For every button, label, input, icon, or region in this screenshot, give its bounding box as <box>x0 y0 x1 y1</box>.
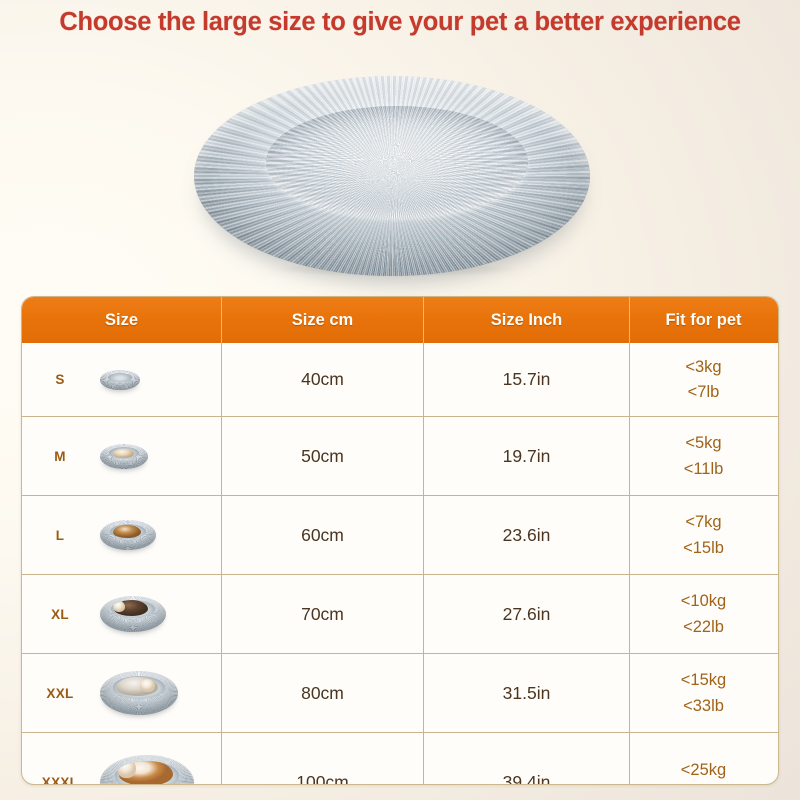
table-row: M 50cm 19.7in <5kg <11lb <box>22 417 778 496</box>
value-size-inch: 31.5in <box>503 683 551 704</box>
cell-size-cm: 70cm <box>222 575 424 653</box>
cell-size-cm: 50cm <box>222 417 424 495</box>
cell-size: XXL <box>22 654 222 732</box>
value-fit-kg: <15kg <box>681 672 726 689</box>
cell-fit-for-pet: <5kg <11lb <box>630 417 777 495</box>
table-body: S 40cm 15.7in <3kg <7lb M <box>22 343 778 785</box>
column-header-size-inch: Size Inch <box>424 297 630 343</box>
cell-fit-for-pet: <10kg <22lb <box>630 575 777 653</box>
column-header-size-cm: Size cm <box>222 297 424 343</box>
value-fit-kg: <5kg <box>685 435 721 452</box>
cell-fit-for-pet: <25kg <55lb <box>630 733 777 785</box>
size-label: L <box>22 528 98 543</box>
column-header-fit-for-pet: Fit for pet <box>630 297 777 343</box>
value-size-cm: 40cm <box>301 369 344 390</box>
size-label: M <box>22 449 98 464</box>
cell-size: L <box>22 496 222 574</box>
value-fit-kg: <10kg <box>681 593 726 610</box>
value-fit-kg: <3kg <box>685 359 721 376</box>
cell-size-inch: 23.6in <box>424 496 630 574</box>
value-fit-lb: <7lb <box>688 384 720 401</box>
cell-size-inch: 19.7in <box>424 417 630 495</box>
value-size-inch: 19.7in <box>503 446 551 467</box>
cell-size-cm: 60cm <box>222 496 424 574</box>
product-size-chart-page: Choose the large size to give your pet a… <box>0 0 800 800</box>
cell-size-inch: 31.5in <box>424 654 630 732</box>
table-header-row: Size Size cm Size Inch Fit for pet <box>22 297 778 343</box>
cell-fit-for-pet: <3kg <7lb <box>630 343 777 416</box>
size-chart-table: Size Size cm Size Inch Fit for pet S 40c… <box>21 296 779 785</box>
table-row: XXL 80cm 31.5in <15kg <box>22 654 778 733</box>
table-row: S 40cm 15.7in <3kg <7lb <box>22 343 778 417</box>
size-thumbnail <box>98 417 221 495</box>
cell-size-inch: 27.6in <box>424 575 630 653</box>
cell-size: XL <box>22 575 222 653</box>
value-size-inch: 15.7in <box>503 369 551 390</box>
size-label: XXXL <box>22 775 98 785</box>
cell-size-cm: 40cm <box>222 343 424 416</box>
cell-size-inch: 39.4in <box>424 733 630 785</box>
cell-fit-for-pet: <15kg <33lb <box>630 654 777 732</box>
hero-bed-inner-cushion <box>266 106 528 218</box>
cell-size: XXXL <box>22 733 222 785</box>
table-row: XXXL 100cm 39.4in <25kg <box>22 733 778 785</box>
value-size-inch: 23.6in <box>503 525 551 546</box>
size-thumbnail <box>98 343 221 416</box>
value-size-cm: 70cm <box>301 604 344 625</box>
cell-size-cm: 80cm <box>222 654 424 732</box>
cell-size: S <box>22 343 222 416</box>
size-thumbnail <box>98 575 221 653</box>
cell-size-inch: 15.7in <box>424 343 630 416</box>
value-fit-kg: <7kg <box>685 514 721 531</box>
value-size-inch: 27.6in <box>503 604 551 625</box>
size-thumbnail <box>98 654 221 732</box>
size-label: XXL <box>22 686 98 701</box>
value-fit-lb: <11lb <box>684 461 724 478</box>
table-row: L 60cm 23.6in <7kg <15lb <box>22 496 778 575</box>
value-fit-lb: <22lb <box>683 619 724 636</box>
size-thumbnail <box>98 496 221 574</box>
value-fit-lb: <33lb <box>683 698 724 715</box>
value-fit-lb: <15lb <box>683 540 724 557</box>
size-label: XL <box>22 607 98 622</box>
size-label: S <box>22 372 98 387</box>
table-row: XL 70cm 27.6in <10kg <box>22 575 778 654</box>
value-size-inch: 39.4in <box>503 772 551 785</box>
value-size-cm: 50cm <box>301 446 344 467</box>
size-thumbnail <box>98 733 221 785</box>
value-size-cm: 100cm <box>296 772 349 785</box>
cell-fit-for-pet: <7kg <15lb <box>630 496 777 574</box>
cell-size: M <box>22 417 222 495</box>
cell-size-cm: 100cm <box>222 733 424 785</box>
value-size-cm: 80cm <box>301 683 344 704</box>
value-fit-kg: <25kg <box>681 762 726 779</box>
page-title: Choose the large size to give your pet a… <box>0 8 800 37</box>
column-header-size: Size <box>22 297 222 343</box>
hero-product-image <box>182 62 602 290</box>
hero-bed-outer-rim <box>194 76 590 276</box>
value-size-cm: 60cm <box>301 525 344 546</box>
